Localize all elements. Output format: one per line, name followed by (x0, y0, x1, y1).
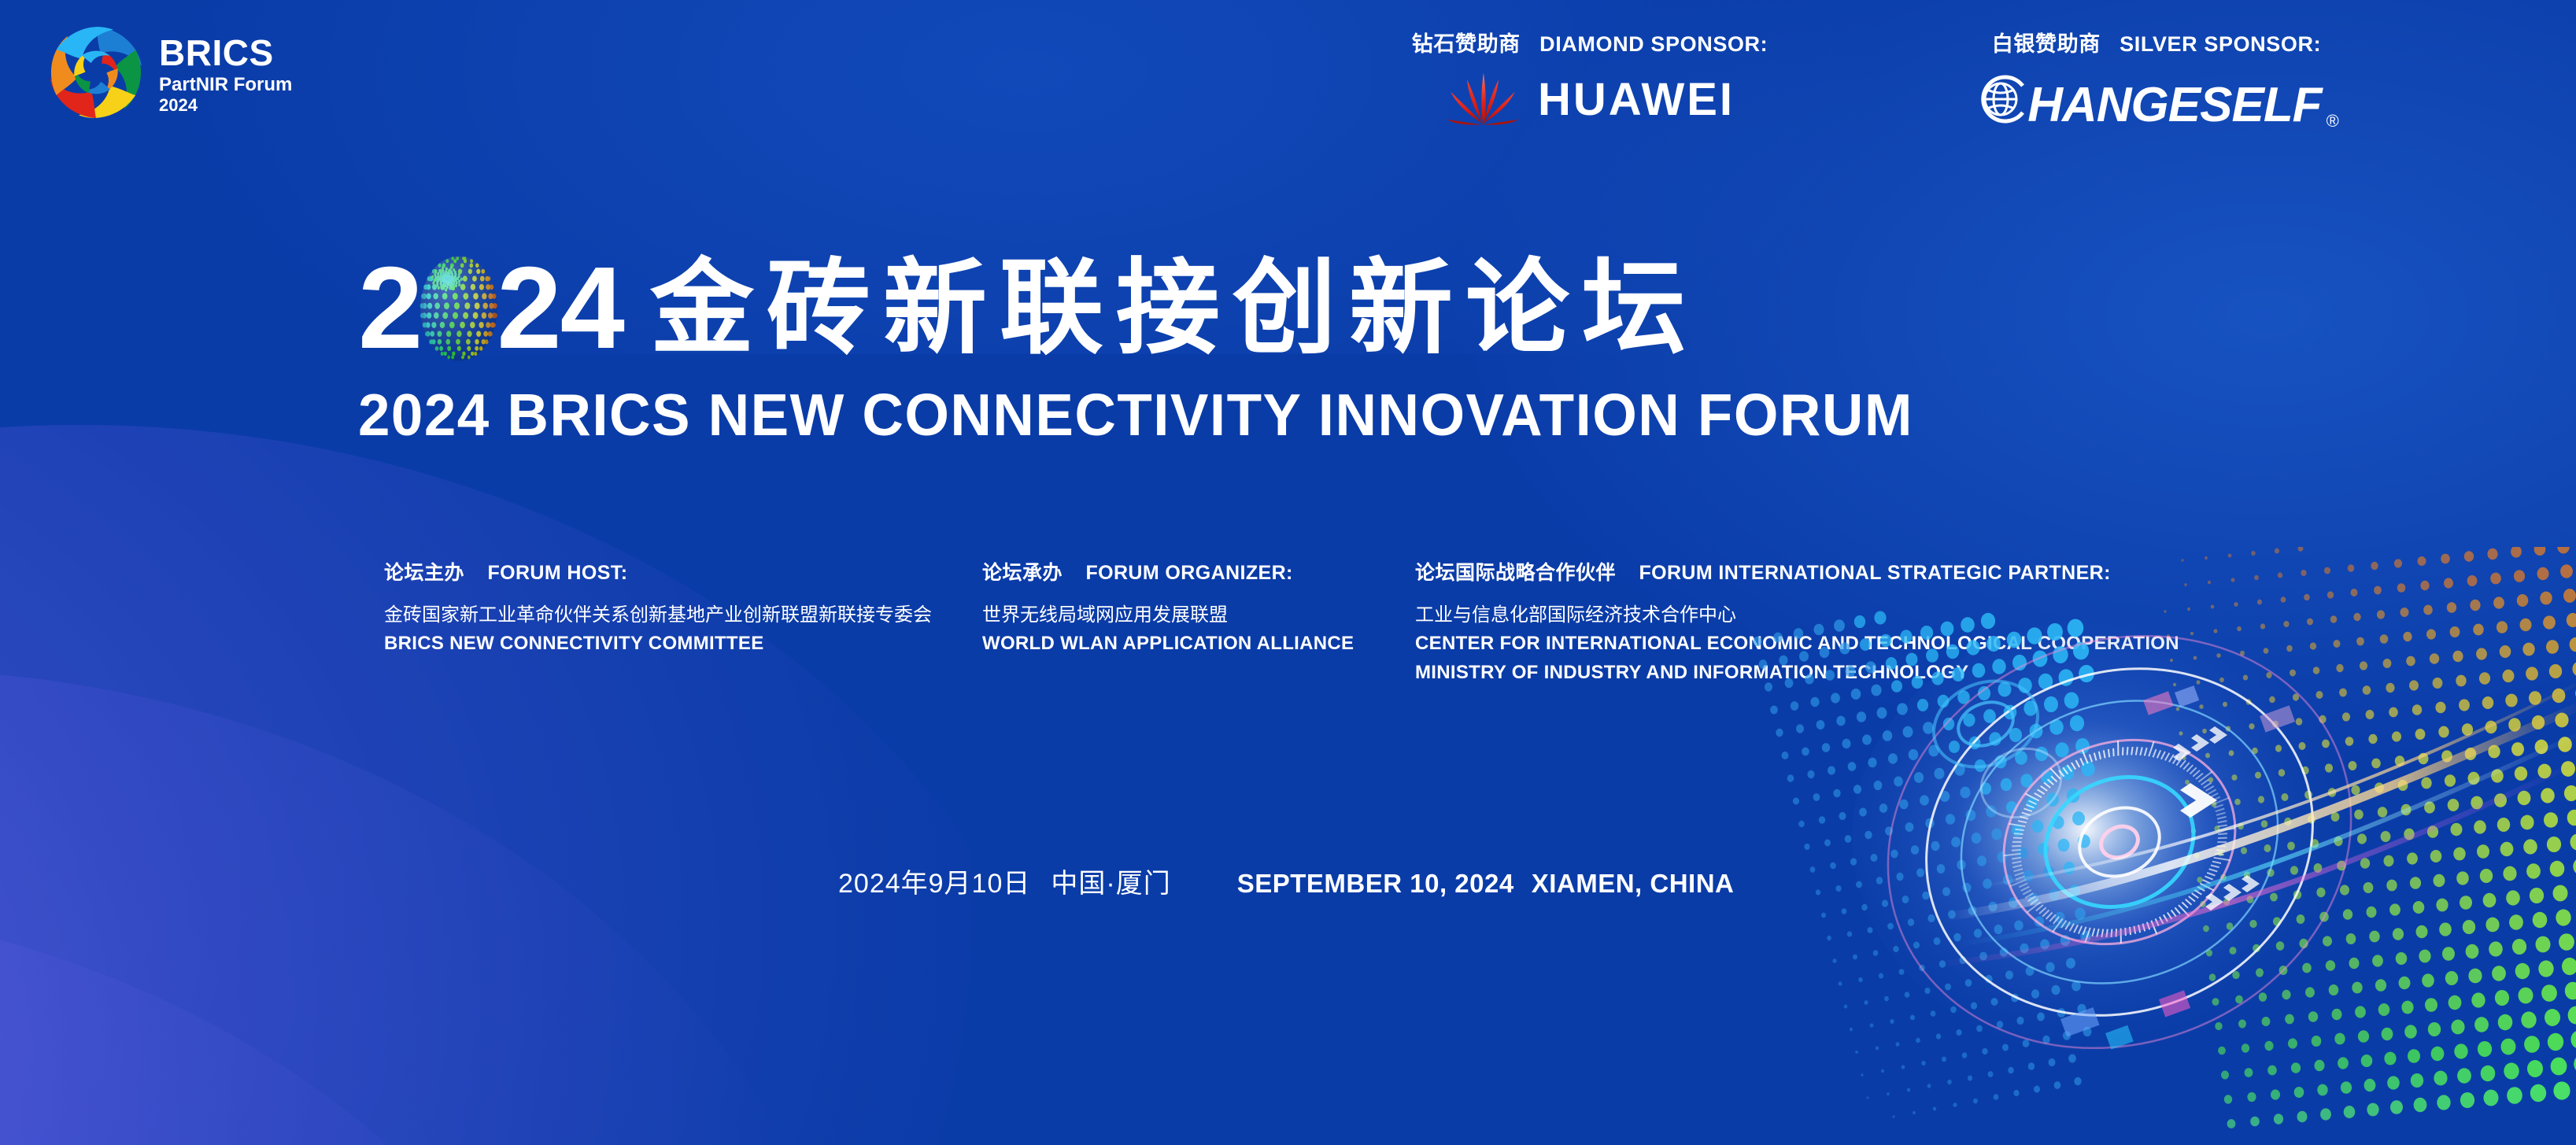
curve-band-2 (0, 669, 866, 1145)
diamond-sponsor-block: 钻石赞助商 DIAMOND SPONSOR: (1338, 27, 1842, 130)
silver-sponsor-label-en: SILVER SPONSOR: (2120, 32, 2321, 56)
title-year-digits-24: 24 (497, 250, 623, 367)
brics-logo-year: 2024 (159, 96, 292, 115)
huawei-wordmark: HUAWEI (1538, 77, 1735, 123)
huawei-flower-icon (1445, 70, 1521, 130)
organizer-organizer-heading-cn: 论坛承办 (982, 562, 1063, 584)
forum-title-english: 2024 BRICS NEW CONNECTIVITY INNOVATION F… (358, 381, 2190, 449)
organizer-host-heading-en: FORUM HOST: (487, 562, 627, 584)
registered-trademark-icon: ® (2327, 113, 2339, 130)
event-city-en: XIAMEN, CHINA (1532, 869, 1735, 899)
organizer-host-heading: 论坛主办 FORUM HOST: (384, 557, 982, 585)
title-year-digit-2: 2 (358, 250, 421, 367)
silver-sponsor-label-cn: 白银赞助商 (1992, 32, 2101, 56)
organizer-column-organizer: 论坛承办 FORUM ORGANIZER: 世界无线局域网应用发展联盟 WORL… (982, 557, 1415, 687)
changeself-wordmark: HANGESELF (2027, 81, 2321, 130)
brics-swirl-mark (41, 17, 151, 127)
diamond-sponsor-label-cn: 钻石赞助商 (1412, 32, 1521, 56)
dotted-sphere-icon (418, 250, 500, 367)
event-date-en: SEPTEMBER 10, 2024 (1237, 869, 1514, 899)
organizer-host-line-cn: 金砖国家新工业革命伙伴关系创新基地产业创新联盟新联接专委会 (384, 601, 982, 630)
brics-logo-text: BRICS PartNIR Forum 2024 (159, 35, 292, 116)
curve-band-3 (0, 897, 630, 1145)
brics-logo-title: BRICS (159, 35, 292, 71)
brics-logo-subtitle: PartNIR Forum (159, 74, 292, 96)
event-city-cn: 中国·厦门 (1051, 862, 1170, 900)
brics-logo: BRICS PartNIR Forum 2024 (41, 17, 340, 120)
background-curved-bands (0, 331, 1338, 1145)
huawei-logo: HUAWEI (1338, 70, 1842, 130)
forum-title-chinese-row: 2 24 金砖新联接创新论坛 (358, 250, 2247, 367)
organizer-host-heading-cn: 论坛主办 (384, 562, 464, 584)
globe-c-icon (1974, 70, 2032, 128)
organizer-partner-heading-cn: 论坛国际战略合作伙伴 (1415, 562, 1616, 584)
curve-band-1 (0, 425, 1102, 1145)
diamond-sponsor-label: 钻石赞助商 DIAMOND SPONSOR: (1338, 27, 1842, 57)
event-date-venue: 2024年9月10日 中国·厦门 SEPTEMBER 10, 2024 XIAM… (838, 862, 1734, 900)
organizer-organizer-line-en: WORLD WLAN APPLICATION ALLIANCE (982, 630, 1415, 658)
silver-sponsor-label: 白银赞助商 SILVER SPONSOR: (1905, 27, 2408, 57)
organizer-host-line-en: BRICS NEW CONNECTIVITY COMMITTEE (384, 630, 982, 658)
organizer-organizer-heading-en: FORUM ORGANIZER: (1085, 562, 1292, 584)
event-banner: BRICS PartNIR Forum 2024 钻石赞助商 DIAMOND S… (0, 0, 2576, 1145)
silver-sponsor-block: 白银赞助商 SILVER SPONSOR: HANGESELF ® (1905, 27, 2408, 130)
forum-title-chinese: 金砖新联接创新论坛 (650, 257, 1698, 360)
organizer-organizer-heading: 论坛承办 FORUM ORGANIZER: (982, 557, 1415, 585)
forum-title-block: 2 24 金砖新联接创新论坛 2024 BRICS NEW CONNECTIVI… (358, 250, 2247, 449)
tech-graphic-svg (1750, 547, 2576, 1145)
diamond-sponsor-label-en: DIAMOND SPONSOR: (1539, 32, 1768, 56)
event-date-cn: 2024年9月10日 (838, 862, 1030, 900)
organizer-organizer-line-cn: 世界无线局域网应用发展联盟 (982, 601, 1415, 630)
changeself-logo: HANGESELF ® (1905, 70, 2408, 130)
organizer-column-host: 论坛主办 FORUM HOST: 金砖国家新工业革命伙伴关系创新基地产业创新联盟… (384, 557, 982, 687)
abstract-tech-orbit-graphic (1750, 547, 2576, 1145)
